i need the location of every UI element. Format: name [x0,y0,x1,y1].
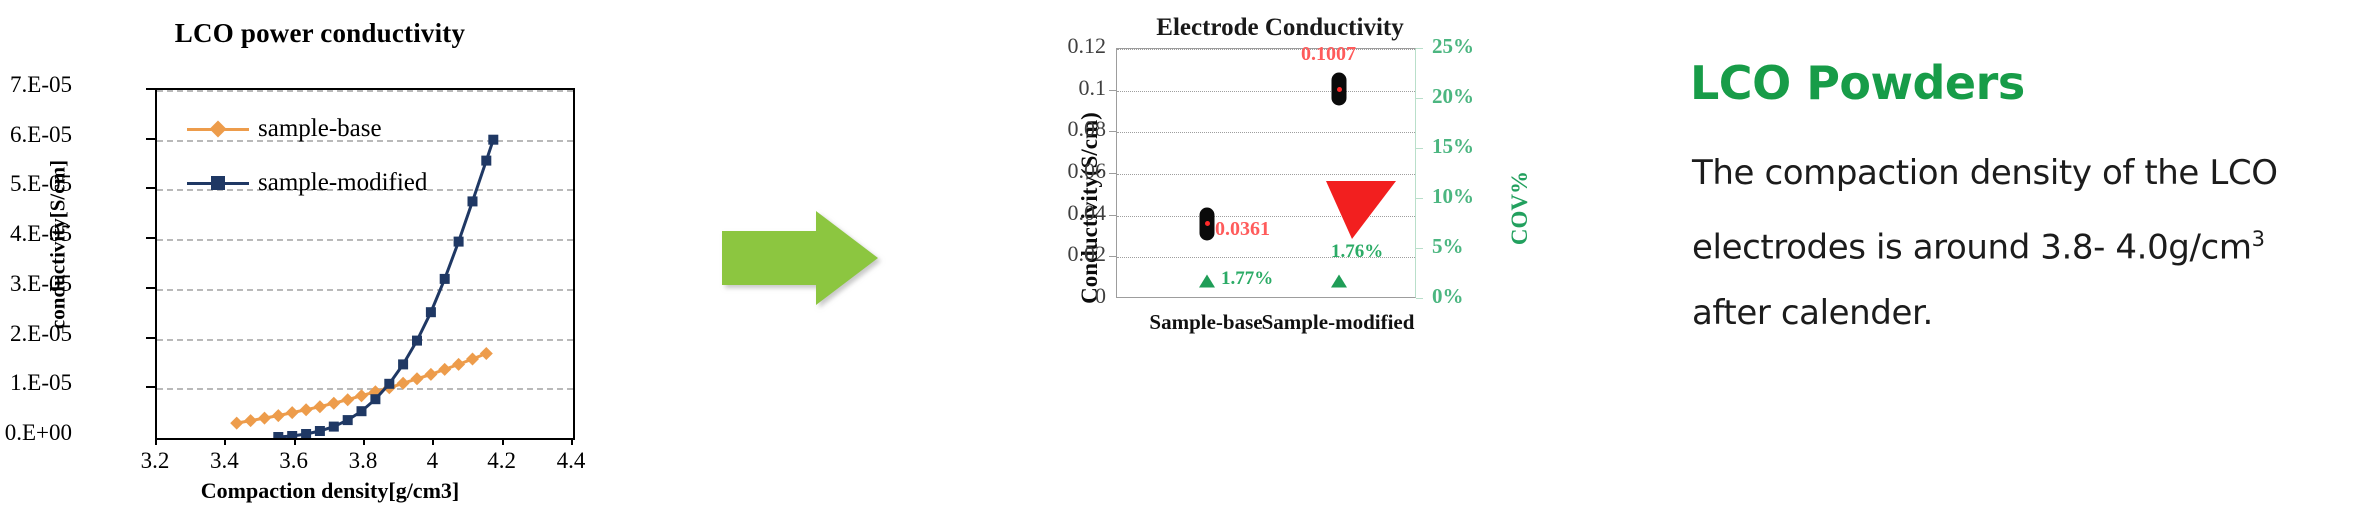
chart1-x-tick: 4.4 [531,448,611,474]
chart2-y-tick-mark [1109,131,1116,132]
right-arrow-icon [700,205,900,315]
chart2-y-tick-mark [1109,215,1116,216]
chart2-secondary-y-tick-mark [1416,298,1423,299]
chart1-data-point [341,393,354,406]
panel-body-text: The compaction density of the LCO electr… [1692,140,2364,346]
chart-lco-power-conductivity: LCO power conductivity conductivity[S/cm… [0,0,660,530]
chart1-data-point [452,358,465,371]
text-panel-lco-powders: LCO Powders The compaction density of th… [1690,0,2366,530]
chart1-y-tick: 3.E-05 [0,271,72,297]
chart2-conductivity-marker [1200,207,1215,240]
chart2-secondary-y-tick-mark [1416,98,1423,99]
body-line-3: after calender. [1692,280,2364,346]
chart1-data-point [370,394,380,404]
chart1-x-axis-label: Compaction density[g/cm3] [70,478,590,504]
chart1-data-point [440,274,450,284]
chart2-y-tick: 0.06 [1016,158,1106,184]
chart1-x-tick: 4.2 [462,448,542,474]
chart1-legend-marker [211,176,225,190]
chart1-y-tick-mark [146,287,155,289]
chart1-data-point [410,372,423,385]
chart1-legend-label-sample-modified: sample-modified [258,169,427,197]
panel-heading: LCO Powders [1690,56,2350,110]
chart2-secondary-y-tick-mark [1416,148,1423,149]
chart1-x-tick: 3.6 [254,448,334,474]
chart1-data-point [466,352,479,365]
chart1-data-point [397,377,410,390]
chart2-secondary-y-tick: 5% [1432,234,1512,259]
chart1-y-tick-mark [146,337,155,339]
chart2-secondary-y-tick-mark [1416,48,1423,49]
chart1-data-point [398,359,408,369]
chart1-data-point [244,414,257,427]
chart2-gridline [1117,132,1415,133]
body-line-2-text: electrodes is around 3.8- 4.0g/cm [1692,227,2252,267]
chart1-data-point [424,368,437,381]
chart2-y-tick: 0.1 [1016,75,1106,101]
chart2-y-tick: 0.08 [1016,116,1106,142]
chart1-data-point [384,379,394,389]
chart1-y-tick-mark [146,237,155,239]
chart2-gridline [1117,174,1415,175]
chart2-cov-value-label: 1.77% [1221,268,1273,290]
chart2-secondary-y-tick: 10% [1432,184,1512,209]
chart2-y-tick-mark [1109,173,1116,174]
red-arrow-annotation-icon [1322,177,1400,243]
chart1-data-point [258,412,271,425]
body-line-2: electrodes is around 3.8- 4.0g/cm3 [1692,206,2364,280]
chart2-conductivity-value-label: 0.0361 [1215,218,1270,241]
body-line-1: The compaction density of the LCO [1692,140,2364,206]
chart2-secondary-y-tick: 15% [1432,134,1512,159]
chart1-data-point [357,406,367,416]
chart1-legend-swatch-sample-base [187,128,249,131]
chart1-plot-area: sample-base sample-modified [155,88,575,440]
chart2-y-tick: 0 [1016,283,1106,309]
chart1-y-tick-mark [146,187,155,189]
chart1-data-point [315,426,325,436]
chart2-gridline [1117,49,1415,50]
chart1-y-tick: 1.E-05 [0,370,72,396]
chart1-y-tick: 7.E-05 [0,72,72,98]
chart1-data-point [481,156,491,166]
chart2-y-tick: 0.12 [1016,33,1106,59]
chart1-y-tick: 2.E-05 [0,321,72,347]
chart1-data-point [230,417,243,430]
chart1-y-tick: 4.E-05 [0,221,72,247]
chart1-y-tick: 0.E+00 [0,420,72,446]
chart1-data-point [273,432,283,438]
chart2-cov-value-label: 1.76% [1331,241,1383,263]
chart1-data-point [343,415,353,425]
chart2-y-tick: 0.04 [1016,200,1106,226]
chart1-x-tick: 3.8 [323,448,403,474]
chart1-data-point [355,389,368,402]
chart1-data-point [329,422,339,432]
chart2-y-tick-mark [1109,90,1116,91]
chart1-y-tick: 6.E-05 [0,122,72,148]
chart1-legend-item-0: sample-base [187,102,427,156]
chart1-data-point [438,363,451,376]
chart1-data-point [412,336,422,346]
chart2-secondary-y-tick: 25% [1432,34,1512,59]
chart2-plot-area: 0.03610.10071.77%1.76% [1116,48,1416,298]
flow-arrow [700,205,900,315]
chart1-data-point [327,397,340,410]
chart2-conductivity-marker [1332,73,1347,106]
chart1-data-point [286,406,299,419]
chart2-secondary-y-tick: 20% [1432,84,1512,109]
chart1-legend-label-sample-base: sample-base [258,115,382,143]
chart1-x-tick: 3.2 [115,448,195,474]
chart1-legend-item-1: sample-modified [187,156,427,210]
slide-canvas: LCO power conductivity conductivity[S/cm… [0,0,2366,530]
chart-electrode-conductivity: Electrode Conductivity Conductivity(S/cm… [1040,0,1600,530]
chart1-legend-swatch-sample-modified [187,182,249,185]
chart2-cov-marker [1199,275,1215,288]
chart1-y-tick: 5.E-05 [0,171,72,197]
chart2-secondary-y-tick: 0% [1432,284,1512,309]
chart2-y-tick: 0.02 [1016,241,1106,267]
chart1-data-point [468,196,478,206]
chart2-secondary-y-tick-mark [1416,198,1423,199]
chart1-legend: sample-base sample-modified [187,102,427,210]
chart1-x-tick: 3.4 [184,448,264,474]
chart2-y-tick-mark [1109,256,1116,257]
chart1-y-tick-mark [146,138,155,140]
chart1-x-tick: 4 [392,448,472,474]
chart1-data-point [301,429,311,438]
chart1-title: LCO power conductivity [0,18,640,49]
chart1-data-point [313,400,326,413]
body-line-2-superscript: 3 [2252,227,2265,251]
chart1-data-point [454,237,464,247]
chart2-marker-center-dot [1205,221,1210,226]
chart1-y-tick-mark [146,386,155,388]
chart2-marker-center-dot [1337,87,1342,92]
chart1-legend-marker [210,121,227,138]
chart1-data-point [426,307,436,317]
chart1-data-point [300,403,313,416]
chart1-data-point [287,431,297,438]
chart2-cov-marker [1331,275,1347,288]
chart2-secondary-y-tick-mark [1416,248,1423,249]
chart2-category-label: Sample-modified [1248,310,1428,335]
chart1-data-point [488,135,498,145]
chart1-data-point [272,409,285,422]
chart2-conductivity-value-label: 0.1007 [1301,43,1356,66]
chart1-y-tick-mark [146,88,155,90]
chart2-gridline [1117,91,1415,92]
chart1-data-point [480,347,493,360]
